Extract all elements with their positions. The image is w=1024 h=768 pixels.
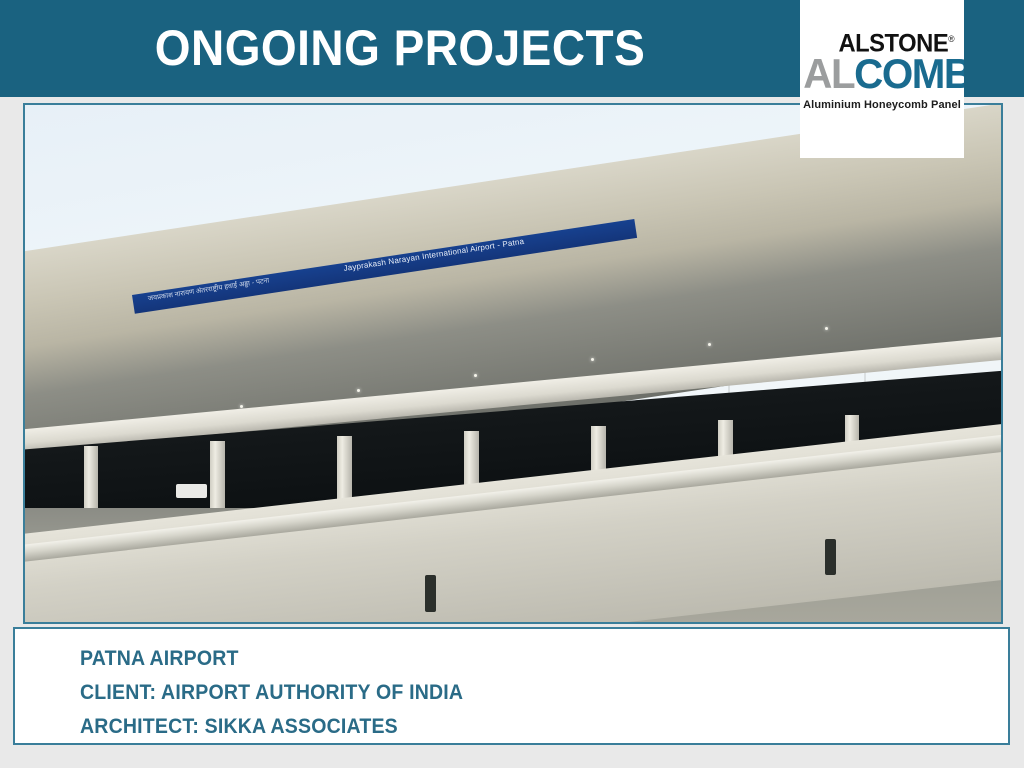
brand-name-alcomb: ALCOMB (803, 53, 960, 95)
photo-guardrail-post (825, 539, 836, 575)
photo-downlight (474, 374, 477, 377)
photo-downlight (240, 405, 243, 408)
photo-vehicle (176, 484, 207, 497)
brand-alcomb-comb: COMB (854, 50, 964, 97)
brand-alcomb-al: AL (803, 50, 854, 97)
page-title: ONGOING PROJECTS (32, 20, 768, 76)
project-photo-frame: जयप्रकाश नारायण अंतरराष्ट्रीय हवाई अड्डा… (23, 103, 1003, 624)
project-caption-list: PATNA AIRPORT CLIENT: AIRPORT AUTHORITY … (80, 642, 492, 744)
slide-root: ONGOING PROJECTS ALSTONE® ALCOMB Alumini… (0, 0, 1024, 768)
brand-logo: ALSTONE® ALCOMB Aluminium Honeycomb Pane… (800, 0, 964, 158)
project-caption-box: PATNA AIRPORT CLIENT: AIRPORT AUTHORITY … (13, 627, 1010, 745)
brand-logo-inner: ALSTONE® ALCOMB Aluminium Honeycomb Pane… (800, 26, 964, 112)
registered-mark-icon: ® (948, 34, 954, 44)
brand-tagline: Aluminium Honeycomb Panel (800, 98, 964, 112)
project-photo: जयप्रकाश नारायण अंतरराष्ट्रीय हवाई अड्डा… (25, 105, 1001, 622)
caption-architect: ARCHITECT: SIKKA ASSOCIATES (80, 710, 463, 744)
photo-guardrail-post (425, 575, 436, 611)
caption-project-name: PATNA AIRPORT (80, 642, 463, 676)
caption-client: CLIENT: AIRPORT AUTHORITY OF INDIA (80, 676, 463, 710)
